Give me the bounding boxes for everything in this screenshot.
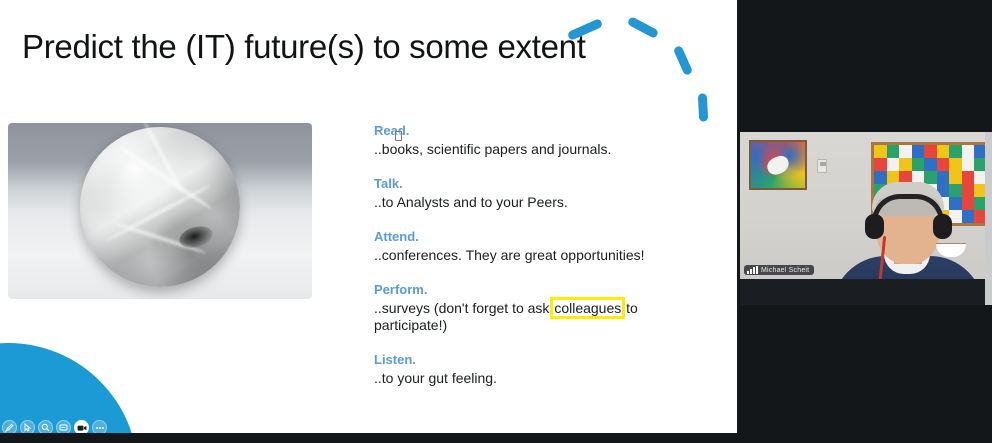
bullet-body: ..conferences. They are great opportunit… <box>374 247 714 264</box>
video-bottom-bar <box>740 279 992 305</box>
bullet-heading: Talk. <box>374 175 714 192</box>
camera-icon[interactable] <box>74 420 89 433</box>
headphone-cup-left <box>865 214 884 239</box>
bullet-heading: Read. <box>374 122 714 139</box>
wall-art-left <box>749 140 807 190</box>
wall-switch <box>817 159 827 173</box>
pen-icon[interactable] <box>2 420 17 433</box>
arc-segment-2 <box>627 16 659 39</box>
participant-name: Michael Scheit <box>761 267 809 274</box>
pointer-icon[interactable] <box>20 420 35 433</box>
bullet-list: Read. ..books, scientific papers and jou… <box>374 122 714 387</box>
bullet-block-attend: Attend. ..conferences. They are great op… <box>374 228 714 264</box>
arc-segment-4 <box>698 93 708 121</box>
bullet-body: ..to your gut feeling. <box>374 370 714 387</box>
signal-bars-icon <box>747 266 758 274</box>
highlighted-word[interactable]: colleagues <box>553 300 622 316</box>
more-options-icon[interactable] <box>92 420 107 433</box>
bullet-block-perform: Perform. ..surveys (don't forget to ask … <box>374 281 714 334</box>
bullet-block-read: Read. ..books, scientific papers and jou… <box>374 122 714 158</box>
mouse-cursor <box>395 131 402 141</box>
present-icon[interactable] <box>56 420 71 433</box>
slide-toolbar[interactable] <box>2 420 107 433</box>
bullet-heading: Perform. <box>374 281 714 298</box>
ball-streak <box>117 145 213 212</box>
ball-streak <box>142 123 185 196</box>
bullet-body: ..surveys (don't forget to ask colleague… <box>374 300 714 334</box>
bullet-body: ..books, scientific papers and journals. <box>374 141 714 158</box>
bullet-block-talk: Talk. ..to Analysts and to your Peers. <box>374 175 714 211</box>
presentation-slide: Predict the (IT) future(s) to some exten… <box>0 0 737 433</box>
bullet-heading: Attend. <box>374 228 714 245</box>
crystal-ball-image <box>8 123 312 299</box>
participant-name-tag: Michael Scheit <box>744 265 814 275</box>
video-scrollbar[interactable] <box>985 132 992 305</box>
meeting-screen: Predict the (IT) future(s) to some exten… <box>0 0 992 443</box>
headphone-cup-right <box>933 214 952 239</box>
bullet-heading: Listen. <box>374 351 714 368</box>
participant-video-tile[interactable]: Michael Scheit <box>740 132 992 305</box>
bullet-block-listen: Listen. ..to your gut feeling. <box>374 351 714 387</box>
bullet-body: ..to Analysts and to your Peers. <box>374 194 714 211</box>
person-smile <box>936 244 966 257</box>
page-title: Predict the (IT) future(s) to some exten… <box>22 28 586 66</box>
bullet-body-pre: ..surveys (don't forget to ask <box>374 300 553 316</box>
zoom-icon[interactable] <box>38 420 53 433</box>
crystal-ball <box>80 127 240 287</box>
arc-segment-3 <box>673 45 693 76</box>
